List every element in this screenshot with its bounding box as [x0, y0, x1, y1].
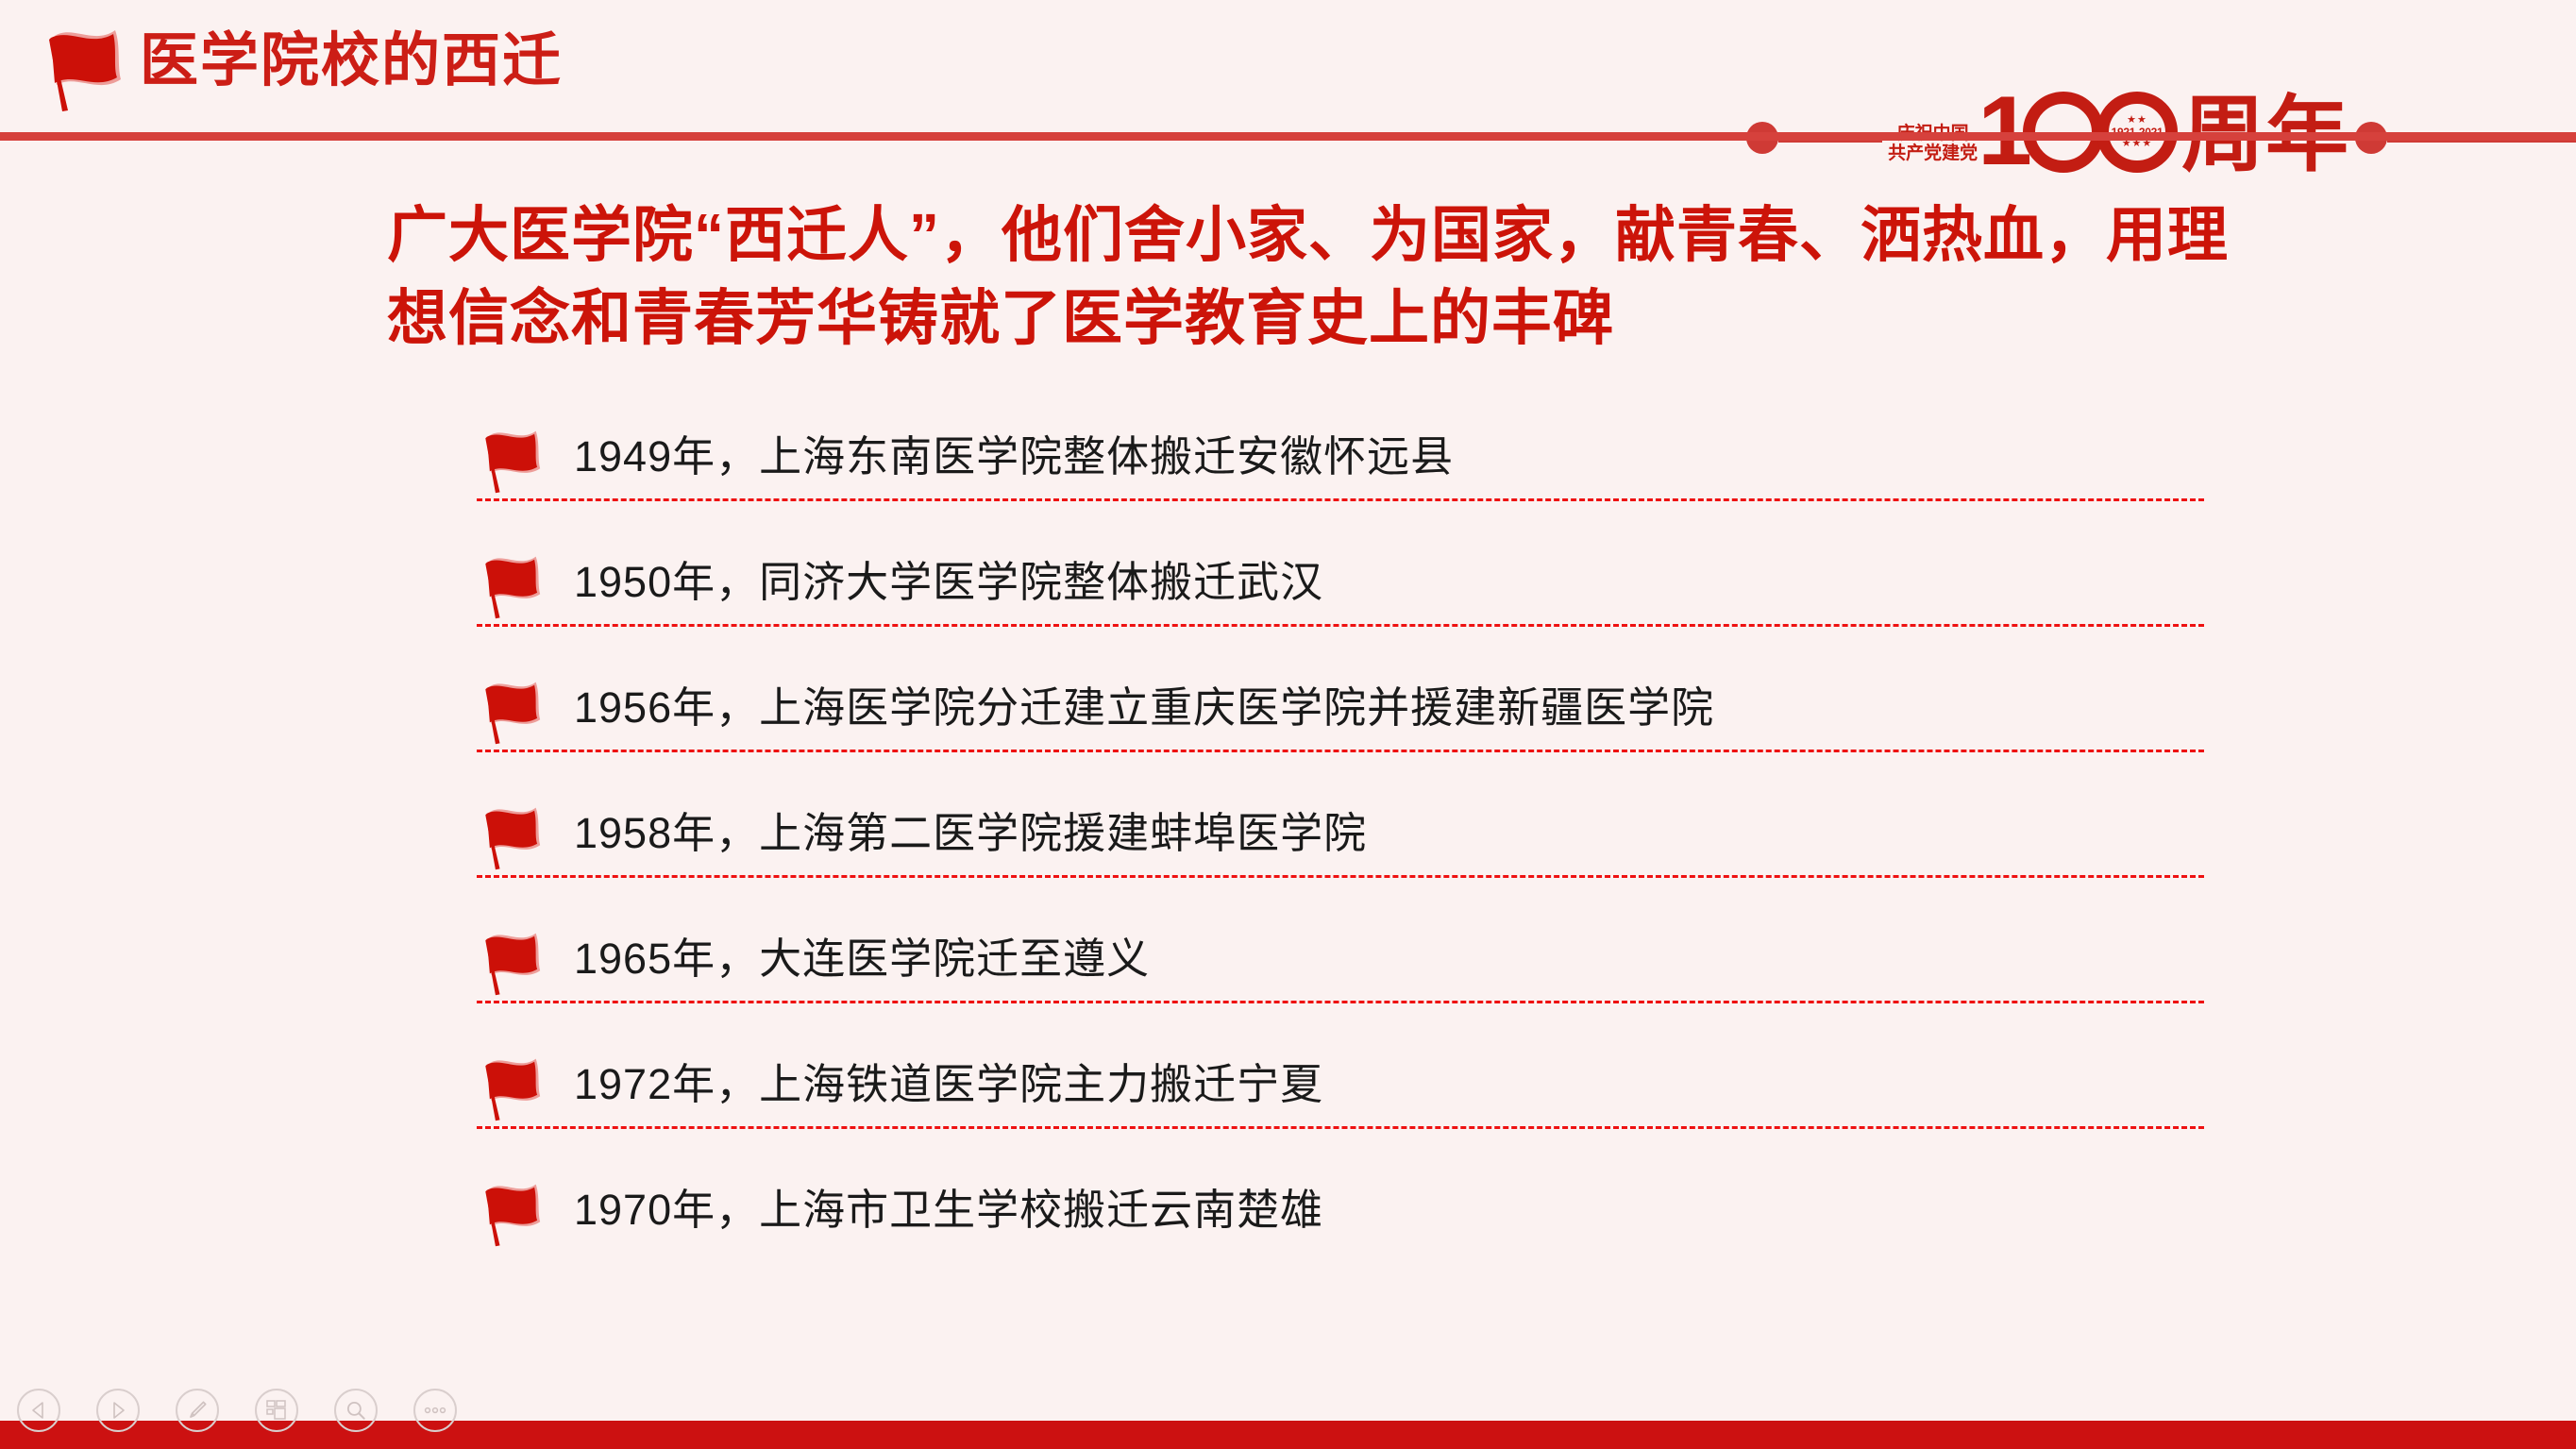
timeline-spacer — [472, 752, 2209, 792]
red-flag-icon — [472, 1049, 555, 1124]
red-flag-icon — [472, 923, 555, 999]
red-flag-icon — [472, 421, 555, 497]
presentation-toolbar — [17, 1389, 457, 1432]
pen-icon — [185, 1398, 210, 1423]
red-flag-icon — [472, 798, 555, 873]
timeline-item: 1950年，同济大学医学院整体搬迁武汉 — [472, 541, 2209, 624]
page-title: 医学院校的西迁 — [140, 25, 563, 98]
timeline-spacer — [472, 1129, 2209, 1169]
timeline-item-text: 1950年，同济大学医学院整体搬迁武汉 — [574, 557, 1323, 608]
magnifier-icon — [344, 1398, 368, 1423]
timeline-item-text: 1949年，上海东南医学院整体搬迁安徽怀远县 — [574, 431, 1454, 482]
pen-tool-button[interactable] — [176, 1389, 219, 1432]
timeline-spacer — [472, 501, 2209, 541]
grid-slides-icon — [264, 1398, 289, 1423]
timeline-item: 1965年，大连医学院迁至遵义 — [472, 918, 2209, 1001]
timeline-item: 1970年，上海市卫生学校搬迁云南楚雄 — [472, 1169, 2209, 1252]
red-flag-icon — [472, 1174, 555, 1250]
timeline-list: 1949年，上海东南医学院整体搬迁安徽怀远县1950年，同济大学医学院整体搬迁武… — [472, 415, 2209, 1252]
triangle-left-icon — [27, 1399, 50, 1422]
headline-text: 广大医学院“西迁人”，他们舍小家、为国家，献青春、洒热血，用理想信念和青春芳华铸… — [387, 194, 2275, 361]
red-flag-icon — [472, 547, 555, 622]
timeline-item: 1972年，上海铁道医学院主力搬迁宁夏 — [472, 1043, 2209, 1126]
timeline-item: 1958年，上海第二医学院援建蚌埠医学院 — [472, 792, 2209, 875]
slide-overview-button[interactable] — [255, 1389, 298, 1432]
zoom-button[interactable] — [334, 1389, 378, 1432]
ring-stars-top: ★★ — [2127, 115, 2147, 126]
header-divider-rule — [0, 132, 2576, 141]
timeline-spacer — [472, 627, 2209, 666]
ellipsis-icon — [423, 1405, 447, 1416]
slide-header: 医学院校的西迁 庆祝中国 共产党建党 1 ★★ 1921-2021 ★★★ — [0, 0, 2576, 140]
timeline-spacer — [472, 878, 2209, 918]
next-slide-button[interactable] — [96, 1389, 140, 1432]
timeline-spacer — [472, 1003, 2209, 1043]
timeline-item: 1949年，上海东南医学院整体搬迁安徽怀远县 — [472, 415, 2209, 498]
timeline-item-text: 1958年，上海第二医学院援建蚌埠医学院 — [574, 808, 1367, 859]
more-options-button[interactable] — [413, 1389, 457, 1432]
triangle-right-icon — [107, 1399, 129, 1422]
timeline-item-text: 1965年，大连医学院迁至遵义 — [574, 934, 1150, 985]
timeline-item: 1956年，上海医学院分迁建立重庆医学院并援建新疆医学院 — [472, 666, 2209, 750]
anniversary-subtext-line2: 共产党建党 — [1888, 144, 1978, 163]
timeline-item-text: 1956年，上海医学院分迁建立重庆医学院并援建新疆医学院 — [574, 682, 1714, 733]
timeline-item-text: 1970年，上海市卫生学校搬迁云南楚雄 — [574, 1185, 1323, 1236]
timeline-item-text: 1972年，上海铁道医学院主力搬迁宁夏 — [574, 1059, 1323, 1110]
red-flag-icon — [34, 17, 138, 116]
previous-slide-button[interactable] — [17, 1389, 60, 1432]
red-flag-icon — [472, 672, 555, 748]
